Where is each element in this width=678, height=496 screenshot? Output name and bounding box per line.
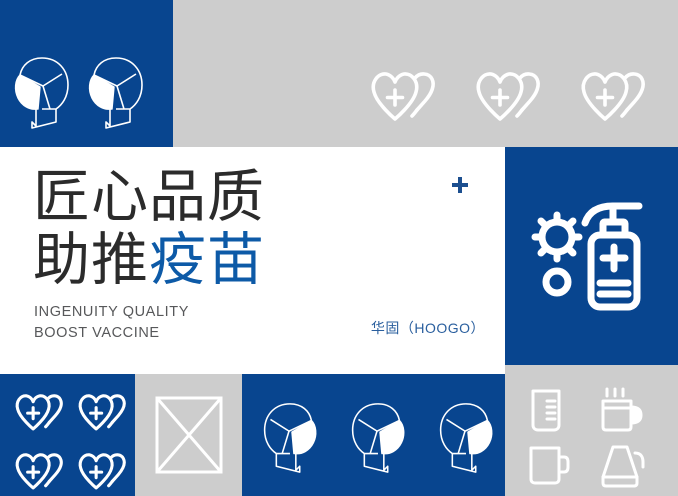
- masked-face-icon: [346, 398, 408, 476]
- double-heart-plus-icon: [369, 68, 441, 128]
- subtitle-block: INGENUITY QUALITY BOOST VACCINE: [34, 302, 189, 343]
- headline-line-2-accent: 疫苗: [149, 228, 265, 292]
- bottom-cups-panel: [505, 365, 678, 496]
- sanitizer-panel: [505, 147, 678, 365]
- hand-sanitizer-bottle-icon: [585, 206, 639, 307]
- sanitizer-icon-group: [527, 195, 657, 325]
- double-heart-plus-icon: [77, 391, 130, 436]
- promo-poster: 匠心品质 助推疫苗 INGENUITY QUALITY BOOST VACCIN…: [0, 0, 678, 496]
- masked-face-icon: [434, 398, 496, 476]
- headline-line-1: 匠心品质: [33, 169, 265, 226]
- double-heart-plus-icon: [14, 391, 67, 436]
- steaming-mug-icon: [595, 387, 647, 433]
- headline-panel: 匠心品质 助推疫苗 INGENUITY QUALITY BOOST VACCIN…: [0, 147, 505, 354]
- mug-icon: [525, 443, 573, 489]
- top-mask-icon-row: [12, 52, 148, 132]
- masked-face-icon: [258, 398, 320, 476]
- masked-face-icon: [12, 52, 74, 132]
- subtitle-line-1: INGENUITY QUALITY: [34, 302, 189, 323]
- top-right-gray-panel: [173, 0, 678, 147]
- headline-line-2: 助推疫苗: [33, 232, 265, 289]
- bottom-mask-panel: [242, 374, 505, 496]
- headline-line-2-dark: 助推: [33, 228, 149, 292]
- headline-block: 匠心品质 助推疫苗: [33, 169, 265, 295]
- double-heart-plus-icon: [14, 450, 67, 495]
- beaker-icon: [525, 387, 573, 433]
- kettle-icon: [595, 443, 647, 489]
- brand-name: 华固（HOOGO）: [371, 318, 485, 338]
- subtitle-line-2: BOOST VACCINE: [34, 323, 189, 344]
- placeholder-panel: [135, 374, 242, 496]
- double-heart-plus-icon: [474, 68, 546, 128]
- cup-icon-grid: [525, 387, 647, 489]
- plus-icon: [451, 176, 469, 194]
- circle-dot-icon: [546, 271, 568, 293]
- bottom-heart-icon-grid: [14, 391, 130, 495]
- top-left-blue-panel: [0, 0, 173, 147]
- broken-image-placeholder-icon: [155, 396, 223, 474]
- masked-face-icon: [86, 52, 148, 132]
- virus-germ-icon: [535, 215, 579, 259]
- double-heart-plus-icon: [579, 68, 651, 128]
- bottom-heart-panel: [0, 374, 135, 496]
- top-heart-icon-row: [369, 68, 678, 128]
- double-heart-plus-icon: [77, 450, 130, 495]
- bottom-mask-icon-row: [258, 398, 496, 476]
